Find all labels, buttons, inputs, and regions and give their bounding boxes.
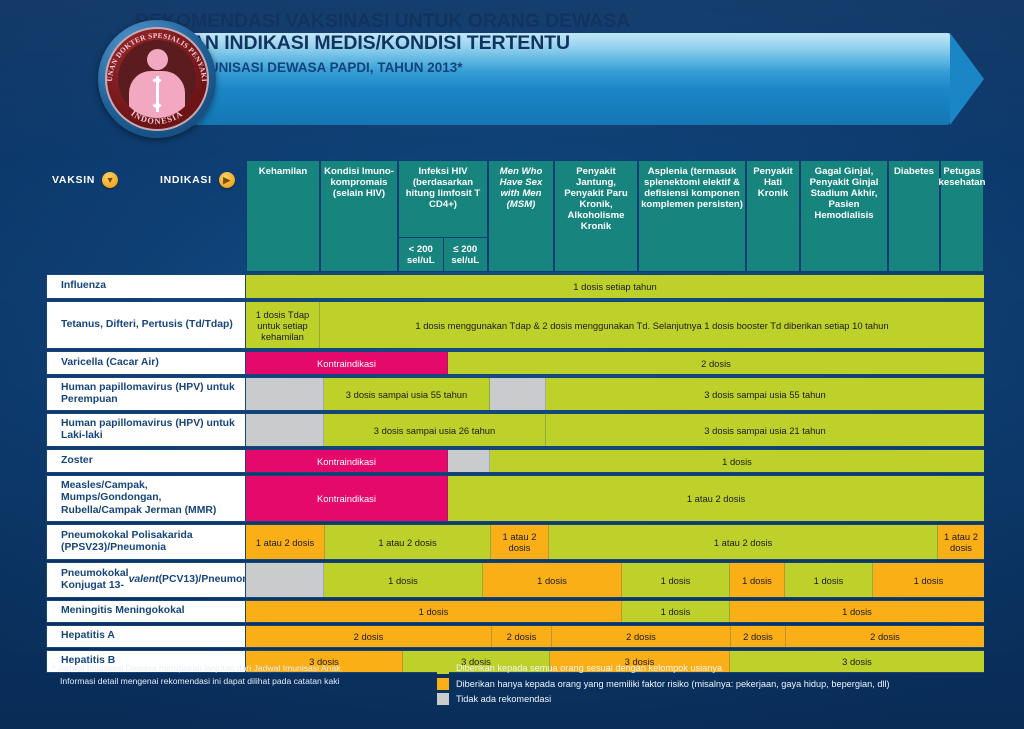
legend-swatch-0 — [437, 662, 449, 674]
vaccine-name-0: Influenza — [46, 274, 246, 299]
column-header-3-label: Men Who Have Sex with Men (MSM) — [491, 166, 551, 210]
column-header-4-label: Penyakit Jantung, Penyakit Paru Kronik, … — [557, 166, 635, 232]
cell-0-0: 1 dosis setiap tahun — [246, 275, 984, 298]
cell-5-1 — [448, 450, 490, 472]
row-cells: 1 dosis1 dosis1 dosis — [246, 600, 984, 623]
cell-10-4: 2 dosis — [786, 626, 984, 647]
table-row: Influenza1 dosis setiap tahun — [46, 274, 984, 299]
column-header-6: Penyakit Hati Kronik — [746, 160, 800, 272]
column-header-3: Men Who Have Sex with Men (MSM) — [488, 160, 554, 272]
legend: Diberikan kepada semua orang sesuai deng… — [437, 662, 890, 709]
cell-8-4: 1 dosis — [730, 563, 785, 597]
cell-7-0: 1 atau 2 dosis — [246, 525, 325, 559]
table-row: Pneumokokal Polisakarida (PPSV23)/Pneumo… — [46, 524, 984, 560]
cell-8-6: 1 dosis — [873, 563, 984, 597]
column-header-2: Infeksi HIV (berdasarkan hitung limfosit… — [398, 160, 488, 272]
column-header-7-label: Gagal Ginjal, Penyakit Ginjal Stadium Ak… — [803, 166, 885, 221]
cell-8-2: 1 dosis — [483, 563, 622, 597]
cell-7-2: 1 atau 2 dosis — [491, 525, 549, 559]
cell-5-2: 1 dosis — [490, 450, 984, 472]
column-header-4: Penyakit Jantung, Penyakit Paru Kronik, … — [554, 160, 638, 272]
column-header-2-label: Infeksi HIV (berdasarkan hitung limfosit… — [399, 161, 487, 237]
table-row: Meningitis Meningokokal1 dosis1 dosis1 d… — [46, 600, 984, 623]
cell-6-0: Kontraindikasi — [246, 476, 448, 521]
cell-3-3: 3 dosis sampai usia 55 tahun — [546, 378, 984, 410]
papdi-logo: PERHIMPUNAN DOKTER SPESIALIS PENYAKIT DA… — [98, 20, 216, 138]
footnote: * Jadwal Imunisasi Dewasa merupakan lanj… — [52, 662, 452, 687]
legend-label-1: Diberikan hanya kepada orang yang memili… — [456, 678, 890, 690]
cell-8-0 — [246, 563, 324, 597]
cell-3-1: 3 dosis sampai usia 55 tahun — [324, 378, 490, 410]
vaccine-name-9: Meningitis Meningokokal — [46, 600, 246, 623]
cell-10-1: 2 dosis — [492, 626, 552, 647]
cell-1-1: 1 dosis menggunakan Tdap & 2 dosis mengg… — [320, 302, 984, 348]
row-cells: 1 dosis setiap tahun — [246, 274, 984, 299]
page-subtitle: SATGAS IMUNISASI DEWASA PAPDI, TAHUN 201… — [135, 60, 775, 75]
title-block: REKOMENDASI VAKSINASI UNTUK ORANG DEWASA… — [135, 10, 775, 75]
cell-7-1: 1 atau 2 dosis — [325, 525, 491, 559]
row-cells: 1 dosis1 dosis1 dosis1 dosis1 dosis1 dos… — [246, 562, 984, 598]
column-header-8: Diabetes — [888, 160, 940, 272]
legend-swatch-1 — [437, 678, 449, 690]
legend-swatch-2 — [437, 693, 449, 705]
vaccine-name-3: Human papillomavirus (HPV) untuk Perempu… — [46, 377, 246, 411]
vaccine-name-5: Zoster — [46, 449, 246, 473]
column-header-5-label: Asplenia (termasuk splenektomi elektif &… — [641, 166, 743, 210]
cell-7-4: 1 atau 2 dosis — [938, 525, 984, 559]
cell-2-0: Kontraindikasi — [246, 352, 448, 374]
cell-10-0: 2 dosis — [246, 626, 492, 647]
row-cells: 3 dosis sampai usia 26 tahun3 dosis samp… — [246, 413, 984, 447]
page-title-line2: DENGAN INDIKASI MEDIS/KONDISI TERTENTU — [135, 32, 775, 54]
table-row: Varicella (Cacar Air)Kontraindikasi2 dos… — [46, 351, 984, 375]
table-body: Influenza1 dosis setiap tahunTetanus, Di… — [46, 274, 984, 673]
column-header-9: Petugas kesehatan — [940, 160, 984, 272]
column-subheader-2-0: < 200 sel/uL — [399, 237, 444, 271]
column-header-0: Kehamilan — [246, 160, 320, 272]
cell-3-0 — [246, 378, 324, 410]
cell-8-3: 1 dosis — [622, 563, 730, 597]
vaccination-schedule-table: KehamilanKondisi Imuno-kompromais (selai… — [46, 160, 984, 675]
column-header-8-label: Diabetes — [894, 166, 934, 177]
table-row: Measles/Campak, Mumps/Gondongan, Rubella… — [46, 475, 984, 522]
row-cells: 1 atau 2 dosis1 atau 2 dosis1 atau 2 dos… — [246, 524, 984, 560]
logo-arc-text-bottom: INDONESIA — [98, 20, 216, 138]
cell-4-2: 3 dosis sampai usia 21 tahun — [546, 414, 984, 446]
column-header-1: Kondisi Imuno-kompromais (selain HIV) — [320, 160, 398, 272]
row-cells: 3 dosis sampai usia 55 tahun3 dosis samp… — [246, 377, 984, 411]
header: REKOMENDASI VAKSINASI UNTUK ORANG DEWASA… — [0, 0, 1024, 152]
row-cells: Kontraindikasi1 dosis — [246, 449, 984, 473]
column-header-6-label: Penyakit Hati Kronik — [749, 166, 797, 199]
legend-label-0: Diberikan kepada semua orang sesuai deng… — [456, 662, 722, 674]
cell-6-1: 1 atau 2 dosis — [448, 476, 984, 521]
vaccine-name-7: Pneumokokal Polisakarida (PPSV23)/Pneumo… — [46, 524, 246, 560]
cell-7-3: 1 atau 2 dosis — [549, 525, 938, 559]
cell-4-1: 3 dosis sampai usia 26 tahun — [324, 414, 546, 446]
vaccine-name-10: Hepatitis A — [46, 625, 246, 648]
cell-8-5: 1 dosis — [785, 563, 873, 597]
vaccine-name-2: Varicella (Cacar Air) — [46, 351, 246, 375]
row-cells: 1 dosis Tdap untuk setiap kehamilan1 dos… — [246, 301, 984, 349]
vaccine-name-6: Measles/Campak, Mumps/Gondongan, Rubella… — [46, 475, 246, 522]
legend-item-0: Diberikan kepada semua orang sesuai deng… — [437, 662, 890, 674]
cell-1-0: 1 dosis Tdap untuk setiap kehamilan — [246, 302, 320, 348]
table-row: ZosterKontraindikasi1 dosis — [46, 449, 984, 473]
table-row: Pneumokokal Konjugat 13-valent (PCV13)/P… — [46, 562, 984, 598]
cell-10-3: 2 dosis — [731, 626, 786, 647]
cell-5-0: Kontraindikasi — [246, 450, 448, 472]
table-row: Tetanus, Difteri, Pertusis (Td/Tdap)1 do… — [46, 301, 984, 349]
row-cells: Kontraindikasi2 dosis — [246, 351, 984, 375]
table-row: Human papillomavirus (HPV) untuk Perempu… — [46, 377, 984, 411]
column-subheader-2-1: ≤ 200 sel/uL — [444, 237, 488, 271]
row-cells: 2 dosis2 dosis2 dosis2 dosis2 dosis — [246, 625, 984, 648]
page-title-line1: REKOMENDASI VAKSINASI UNTUK ORANG DEWASA — [135, 10, 775, 32]
cell-2-1: 2 dosis — [448, 352, 984, 374]
logo-arc-bottom-label: INDONESIA — [129, 109, 185, 126]
footnote-line2: Informasi detail mengenai rekomendasi in… — [52, 675, 452, 688]
cell-3-2 — [490, 378, 546, 410]
table-row: Human papillomavirus (HPV) untuk Laki-la… — [46, 413, 984, 447]
column-header-7: Gagal Ginjal, Penyakit Ginjal Stadium Ak… — [800, 160, 888, 272]
svg-text:INDONESIA: INDONESIA — [129, 109, 185, 126]
column-header-0-label: Kehamilan — [259, 166, 308, 177]
legend-item-2: Tidak ada rekomendasi — [437, 693, 890, 705]
column-header-5: Asplenia (termasuk splenektomi elektif &… — [638, 160, 746, 272]
footnote-line1: * Jadwal Imunisasi Dewasa merupakan lanj… — [52, 662, 452, 675]
cell-8-1: 1 dosis — [324, 563, 483, 597]
legend-item-1: Diberikan hanya kepada orang yang memili… — [437, 678, 890, 690]
column-header-1-label: Kondisi Imuno-kompromais (selain HIV) — [323, 166, 395, 199]
table-row: Hepatitis A2 dosis2 dosis2 dosis2 dosis2… — [46, 625, 984, 648]
cell-9-1: 1 dosis — [622, 601, 730, 622]
row-cells: Kontraindikasi1 atau 2 dosis — [246, 475, 984, 522]
cell-9-0: 1 dosis — [246, 601, 622, 622]
cell-9-2: 1 dosis — [730, 601, 984, 622]
cell-10-2: 2 dosis — [552, 626, 731, 647]
vaccine-name-8: Pneumokokal Konjugat 13-valent (PCV13)/P… — [46, 562, 246, 598]
vaccine-name-1: Tetanus, Difteri, Pertusis (Td/Tdap) — [46, 301, 246, 349]
legend-label-2: Tidak ada rekomendasi — [456, 693, 551, 705]
cell-4-0 — [246, 414, 324, 446]
table-header-row: KehamilanKondisi Imuno-kompromais (selai… — [246, 160, 984, 272]
vaccine-name-4: Human papillomavirus (HPV) untuk Laki-la… — [46, 413, 246, 447]
column-header-9-label: Petugas kesehatan — [939, 166, 986, 188]
column-header-2-subcolumns: < 200 sel/uL≤ 200 sel/uL — [399, 237, 487, 271]
